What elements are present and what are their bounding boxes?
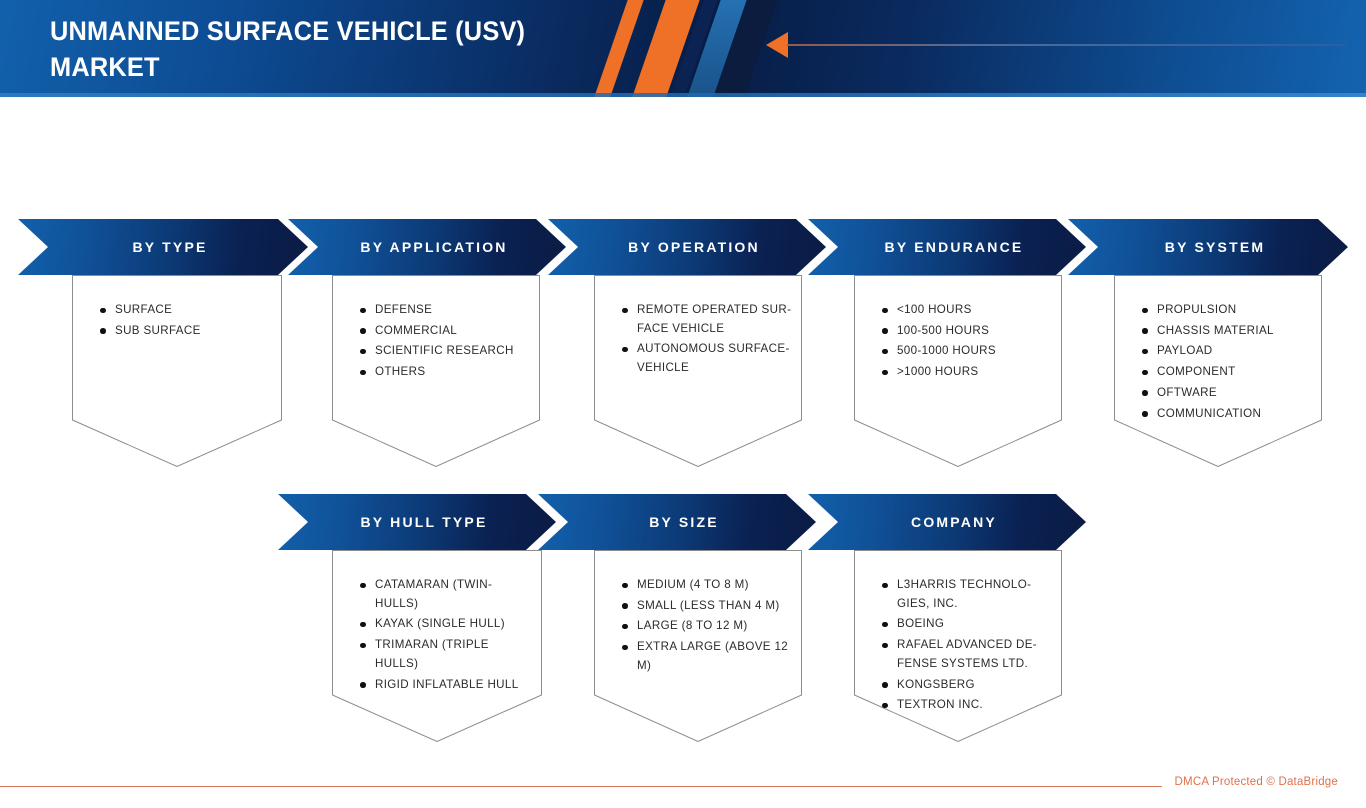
panel-header-chevron[interactable]: BY OPERATION xyxy=(548,219,826,275)
list-item[interactable]: MEDIUM (4 TO 8 M) xyxy=(622,576,792,595)
list-item[interactable]: OFTWARE xyxy=(1142,384,1312,403)
panel-item-list: REMOTE OPERATED SUR-FACE VEHICLEAUTONOMO… xyxy=(594,275,802,380)
list-item[interactable]: AUTONOMOUS SURFACE-VEHICLE xyxy=(622,340,792,377)
segment-panels: SURFACESUB SURFACEBY TYPEDEFENSECOMMERCI… xyxy=(0,0,1366,808)
footer-rule xyxy=(0,786,1162,787)
list-item[interactable]: KAYAK (SINGLE HULL) xyxy=(360,615,532,634)
panel-header-chevron[interactable]: BY ENDURANCE xyxy=(808,219,1086,275)
panel-header-label: BY TYPE xyxy=(118,239,207,255)
panel-body: CATAMARAN (TWIN-HULLS)KAYAK (SINGLE HULL… xyxy=(332,550,542,742)
list-item[interactable]: PAYLOAD xyxy=(1142,342,1312,361)
panel-header-banner: BY SYSTEM xyxy=(1068,219,1348,275)
panel-item-list: SURFACESUB SURFACE xyxy=(72,275,282,342)
panel-header-label: BY SIZE xyxy=(635,514,719,530)
panel-item-list: PROPULSIONCHASSIS MATERIALPAYLOADCOMPONE… xyxy=(1114,275,1322,425)
list-item[interactable]: <100 HOURS xyxy=(882,301,1052,320)
panel-item-list: <100 HOURS100-500 HOURS500-1000 HOURS>10… xyxy=(854,275,1062,384)
list-item[interactable]: RAFAEL ADVANCED DE-FENSE SYSTEMS LTD. xyxy=(882,636,1052,673)
list-item[interactable]: OTHERS xyxy=(360,363,530,382)
panel-body: L3HARRIS TECHNOLO-GIES, INC.BOEINGRAFAEL… xyxy=(854,550,1062,742)
list-item[interactable]: DEFENSE xyxy=(360,301,530,320)
list-item[interactable]: SURFACE xyxy=(100,301,272,320)
list-item[interactable]: PROPULSION xyxy=(1142,301,1312,320)
panel-body: REMOTE OPERATED SUR-FACE VEHICLEAUTONOMO… xyxy=(594,275,802,467)
list-item[interactable]: KONGSBERG xyxy=(882,676,1052,695)
panel-header-banner: BY HULL TYPE xyxy=(278,494,556,550)
list-item[interactable]: CATAMARAN (TWIN-HULLS) xyxy=(360,576,532,613)
list-item[interactable]: SMALL (LESS THAN 4 M) xyxy=(622,597,792,616)
list-item[interactable]: SCIENTIFIC RESEARCH xyxy=(360,342,530,361)
list-item[interactable]: COMMUNICATION xyxy=(1142,405,1312,424)
panel-header-label: COMPANY xyxy=(897,514,997,530)
list-item[interactable]: L3HARRIS TECHNOLO-GIES, INC. xyxy=(882,576,1052,613)
panel-header-chevron[interactable]: BY HULL TYPE xyxy=(278,494,556,550)
list-item[interactable]: 500-1000 HOURS xyxy=(882,342,1052,361)
list-item[interactable]: RIGID INFLATABLE HULL xyxy=(360,676,532,695)
panel-body: <100 HOURS100-500 HOURS500-1000 HOURS>10… xyxy=(854,275,1062,467)
list-item[interactable]: CHASSIS MATERIAL xyxy=(1142,322,1312,341)
panel-header-label: BY APPLICATION xyxy=(346,239,507,255)
panel-header-chevron[interactable]: BY SYSTEM xyxy=(1068,219,1348,275)
panel-item-list: CATAMARAN (TWIN-HULLS)KAYAK (SINGLE HULL… xyxy=(332,550,542,696)
panel-body: DEFENSECOMMERCIALSCIENTIFIC RESEARCHOTHE… xyxy=(332,275,540,467)
list-item[interactable]: TEXTRON INC. xyxy=(882,696,1052,715)
list-item[interactable]: REMOTE OPERATED SUR-FACE VEHICLE xyxy=(622,301,792,338)
panel-header-chevron[interactable]: COMPANY xyxy=(808,494,1086,550)
list-item[interactable]: LARGE (8 TO 12 M) xyxy=(622,617,792,636)
panel-header-banner: BY SIZE xyxy=(538,494,816,550)
panel-header-chevron[interactable]: BY APPLICATION xyxy=(288,219,566,275)
list-item[interactable]: BOEING xyxy=(882,615,1052,634)
panel-body: PROPULSIONCHASSIS MATERIALPAYLOADCOMPONE… xyxy=(1114,275,1322,467)
panel-item-list: L3HARRIS TECHNOLO-GIES, INC.BOEINGRAFAEL… xyxy=(854,550,1062,717)
list-item[interactable]: SUB SURFACE xyxy=(100,322,272,341)
list-item[interactable]: TRIMARAN (TRIPLE HULLS) xyxy=(360,636,532,673)
panel-item-list: MEDIUM (4 TO 8 M)SMALL (LESS THAN 4 M)LA… xyxy=(594,550,802,678)
panel-header-banner: BY APPLICATION xyxy=(288,219,566,275)
list-item[interactable]: >1000 HOURS xyxy=(882,363,1052,382)
list-item[interactable]: 100-500 HOURS xyxy=(882,322,1052,341)
panel-header-label: BY HULL TYPE xyxy=(346,514,487,530)
panel-header-banner: COMPANY xyxy=(808,494,1086,550)
list-item[interactable]: EXTRA LARGE (ABOVE 12 M) xyxy=(622,638,792,675)
list-item[interactable]: COMMERCIAL xyxy=(360,322,530,341)
panel-header-label: BY SYSTEM xyxy=(1151,239,1265,255)
panel-item-list: DEFENSECOMMERCIALSCIENTIFIC RESEARCHOTHE… xyxy=(332,275,540,384)
panel-header-banner: BY ENDURANCE xyxy=(808,219,1086,275)
dmca-footer-text: DMCA Protected © DataBridge xyxy=(1175,776,1338,788)
panel-header-label: BY ENDURANCE xyxy=(871,239,1024,255)
panel-header-banner: BY TYPE xyxy=(18,219,308,275)
panel-header-label: BY OPERATION xyxy=(614,239,760,255)
panel-header-chevron[interactable]: BY SIZE xyxy=(538,494,816,550)
panel-header-chevron[interactable]: BY TYPE xyxy=(18,219,308,275)
panel-body: MEDIUM (4 TO 8 M)SMALL (LESS THAN 4 M)LA… xyxy=(594,550,802,742)
panel-body: SURFACESUB SURFACE xyxy=(72,275,282,467)
panel-header-banner: BY OPERATION xyxy=(548,219,826,275)
list-item[interactable]: COMPONENT xyxy=(1142,363,1312,382)
